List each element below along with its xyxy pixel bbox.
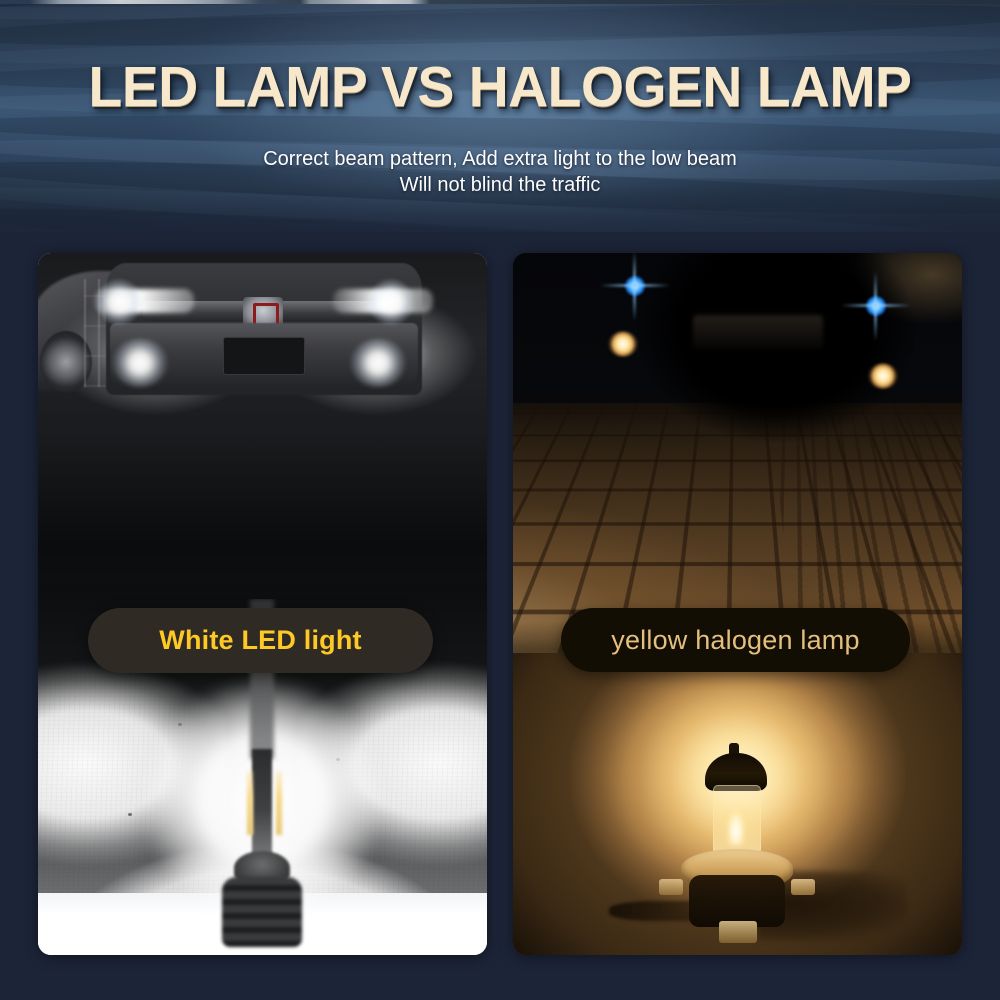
halogen-label-pill: yellow halogen lamp [561, 608, 910, 672]
blue-accent-light-left [624, 275, 646, 297]
license-plate [223, 337, 305, 375]
headlight-core-right [368, 279, 414, 325]
led-bulb-body [252, 749, 272, 859]
promo-page: LED LAMP VS HALOGEN LAMP Correct beam pa… [0, 0, 1000, 1000]
subtitle-line-1: Correct beam pattern, Add extra light to… [263, 148, 737, 170]
fog-light-left [112, 339, 168, 387]
led-bulb-base [222, 877, 302, 947]
halogen-headlight-right [868, 363, 898, 389]
halogen-label-text: yellow halogen lamp [611, 625, 859, 656]
halogen-vignette [513, 653, 962, 955]
halogen-night-photo [513, 253, 962, 663]
top-highlight-strip [0, 0, 1000, 4]
page-title: LED LAMP VS HALOGEN LAMP [15, 56, 985, 118]
led-panel: White LED light [38, 253, 487, 955]
header-fade [0, 186, 1000, 256]
comparison-panels: White LED light [38, 253, 962, 955]
led-label-text: White LED light [159, 625, 361, 656]
fog-light-right [350, 339, 406, 387]
car-grille-dark [693, 315, 823, 349]
led-chip-left [247, 771, 253, 835]
halogen-headlight-left [608, 331, 638, 357]
led-chip-right [276, 771, 282, 835]
halogen-panel: yellow halogen lamp [513, 253, 962, 955]
headlight-core-left [96, 279, 142, 325]
led-label-pill: White LED light [88, 608, 433, 673]
blue-accent-light-right [865, 295, 887, 317]
